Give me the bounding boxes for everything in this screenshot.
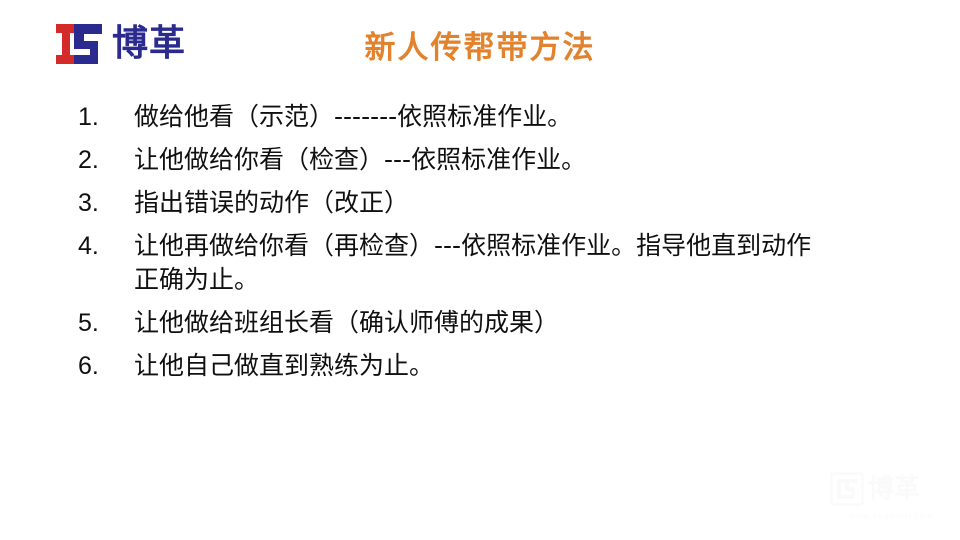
slide-header: 博革 新人传帮带方法 [0,0,960,88]
list-item-text: 让他做给你看（检查）---依照标准作业。 [134,143,834,177]
list-item: 1. 做给他看（示范）-------依照标准作业。 [0,100,960,143]
list-item: 6. 让他自己做直到熟练为止。 [0,349,960,392]
watermark-text: 博革 [868,472,920,506]
list-item: 5. 让他做给班组长看（确认师傅的成果） [0,306,960,349]
list-item-text: 让他再做给你看（再检查）---依照标准作业。指导他直到动作正确为止。 [134,229,834,297]
page-title: 新人传帮带方法 [0,22,960,67]
list-item-number: 2. [0,143,134,177]
list-item: 4. 让他再做给你看（再检查）---依照标准作业。指导他直到动作正确为止。 [0,229,960,306]
slide: 博革 新人传帮带方法 1. 做给他看（示范）-------依照标准作业。 2. … [0,0,960,540]
list-item-text: 让他做给班组长看（确认师傅的成果） [134,306,834,340]
list-item-text: 让他自己做直到熟练为止。 [134,349,834,383]
slide-content: 1. 做给他看（示范）-------依照标准作业。 2. 让他做给你看（检查）-… [0,100,960,392]
list-item: 2. 让他做给你看（检查）---依照标准作业。 [0,143,960,186]
watermark: 博革 www.bogesoft.com [830,468,952,528]
list-item-number: 5. [0,306,134,340]
numbered-step-list: 1. 做给他看（示范）-------依照标准作业。 2. 让他做给你看（检查）-… [0,100,960,392]
bg-monogram-icon [830,472,864,506]
watermark-url: www.bogesoft.com [830,511,952,521]
list-item-number: 6. [0,349,134,383]
list-item-number: 1. [0,100,134,134]
list-item: 3. 指出错误的动作（改正） [0,186,960,229]
list-item-number: 4. [0,229,134,263]
list-item-text: 做给他看（示范）-------依照标准作业。 [134,100,834,134]
list-item-number: 3. [0,186,134,220]
list-item-text: 指出错误的动作（改正） [134,186,834,220]
watermark-logo: 博革 [830,468,952,510]
